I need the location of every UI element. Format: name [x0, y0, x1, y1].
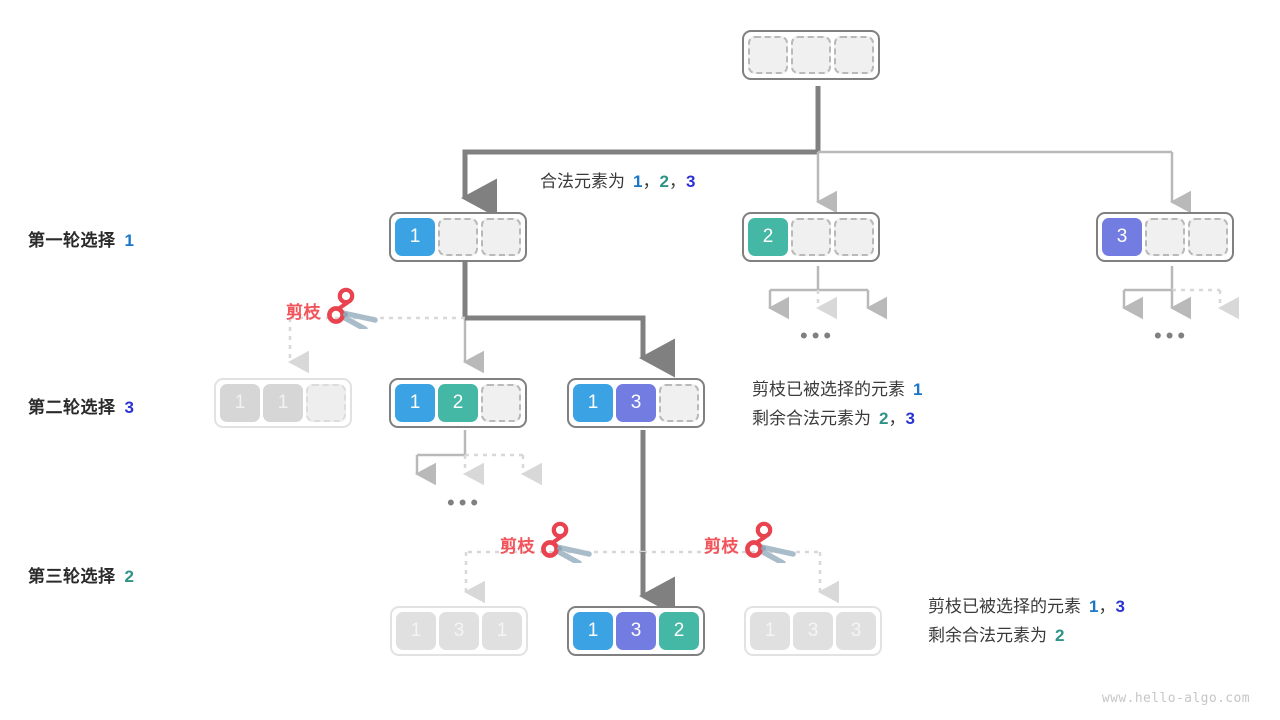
- note-prefix: 合法元素为: [540, 172, 625, 191]
- node-root: [742, 30, 880, 80]
- note-value-2: 3: [1115, 597, 1124, 616]
- note-value-1: 2: [1055, 626, 1064, 645]
- row-label-text: 第三轮选择: [28, 567, 116, 586]
- prune-marker-1: 剪枝: [286, 287, 381, 334]
- note-legal-elements: 合法元素为1，2，3: [540, 167, 695, 196]
- state-cell: 3: [836, 612, 876, 650]
- state-cell: 2: [748, 218, 788, 256]
- state-cell: [791, 218, 831, 256]
- state-cell: [481, 218, 521, 256]
- state-cell: 3: [616, 612, 656, 650]
- ellipsis-under-node-2: •••: [800, 325, 835, 347]
- state-cell: 1: [263, 384, 303, 422]
- row-label-value: 2: [125, 567, 135, 586]
- node-level1-choice-2: 2: [742, 212, 880, 262]
- state-cell: 3: [439, 612, 479, 650]
- prune-label: 剪枝: [704, 532, 739, 557]
- prune-marker-2: 剪枝: [500, 521, 595, 568]
- prune-marker-3: 剪枝: [704, 521, 799, 568]
- row-label-round-1: 第一轮选择1: [28, 226, 134, 251]
- state-cell: [834, 36, 874, 74]
- state-cell: [834, 218, 874, 256]
- note-round2-line1: 剪枝已被选择的元素1: [752, 375, 922, 404]
- state-cell: 3: [616, 384, 656, 422]
- node-level1-choice-3: 3: [1096, 212, 1234, 262]
- note-round3-line2: 剩余合法元素为2: [928, 621, 1125, 650]
- row-label-text: 第一轮选择: [28, 231, 116, 250]
- node-level3-pruned-1-3-3: 133: [744, 606, 882, 656]
- scissors-icon: [539, 521, 595, 568]
- note-value-2: 2: [659, 172, 668, 191]
- state-cell: 1: [396, 612, 436, 650]
- note-prefix: 剩余合法元素为: [752, 409, 871, 428]
- state-cell: 1: [220, 384, 260, 422]
- note-prefix: 剩余合法元素为: [928, 626, 1047, 645]
- state-cell: 1: [750, 612, 790, 650]
- state-cell: 1: [573, 384, 613, 422]
- note-separator: ，: [1098, 597, 1115, 616]
- row-label-value: 3: [125, 398, 135, 417]
- note-round3-explanation: 剪枝已被选择的元素1，3 剩余合法元素为2: [928, 592, 1125, 650]
- note-prefix: 剪枝已被选择的元素: [928, 597, 1081, 616]
- state-cell: [1188, 218, 1228, 256]
- ellipsis-under-node-1-2: •••: [447, 492, 482, 514]
- state-cell: [748, 36, 788, 74]
- state-cell: [1145, 218, 1185, 256]
- note-separator: ，: [669, 172, 686, 191]
- row-label-round-2: 第二轮选择3: [28, 393, 134, 418]
- scissors-icon: [743, 521, 799, 568]
- state-cell: 3: [1102, 218, 1142, 256]
- backtracking-pruning-diagram: 第一轮选择1 第二轮选择3 第三轮选择2 1 2 3 11 12 13 131 …: [0, 0, 1280, 720]
- note-separator: ，: [888, 409, 905, 428]
- state-cell: 1: [573, 612, 613, 650]
- node-level2-pruned-1-1: 11: [214, 378, 352, 428]
- node-level2-choice-1-2: 12: [389, 378, 527, 428]
- state-cell: 1: [482, 612, 522, 650]
- row-label-text: 第二轮选择: [28, 398, 116, 417]
- ellipsis-under-node-3: •••: [1154, 325, 1189, 347]
- state-cell: 2: [659, 612, 699, 650]
- state-cell: [791, 36, 831, 74]
- note-prefix: 剪枝已被选择的元素: [752, 380, 905, 399]
- prune-label: 剪枝: [286, 298, 321, 323]
- node-level3-choice-1-3-2: 132: [567, 606, 705, 656]
- state-cell: [306, 384, 346, 422]
- state-cell: 2: [438, 384, 478, 422]
- note-round2-explanation: 剪枝已被选择的元素1 剩余合法元素为2，3: [752, 375, 922, 433]
- note-value-1: 1: [913, 380, 922, 399]
- node-level2-choice-1-3: 13: [567, 378, 705, 428]
- node-level3-pruned-1-3-1: 131: [390, 606, 528, 656]
- watermark: www.hello-algo.com: [1102, 691, 1250, 706]
- state-cell: [438, 218, 478, 256]
- row-label-value: 1: [125, 231, 135, 250]
- node-level1-choice-1: 1: [389, 212, 527, 262]
- state-cell: [659, 384, 699, 422]
- prune-label: 剪枝: [500, 532, 535, 557]
- note-separator: ，: [642, 172, 659, 191]
- state-cell: 1: [395, 384, 435, 422]
- state-cell: 3: [793, 612, 833, 650]
- row-label-round-3: 第三轮选择2: [28, 562, 134, 587]
- note-value-2: 3: [905, 409, 914, 428]
- scissors-icon: [325, 287, 381, 334]
- note-round3-line1: 剪枝已被选择的元素1，3: [928, 592, 1125, 621]
- note-round2-line2: 剩余合法元素为2，3: [752, 404, 922, 433]
- state-cell: 1: [395, 218, 435, 256]
- state-cell: [481, 384, 521, 422]
- note-value-3: 3: [686, 172, 695, 191]
